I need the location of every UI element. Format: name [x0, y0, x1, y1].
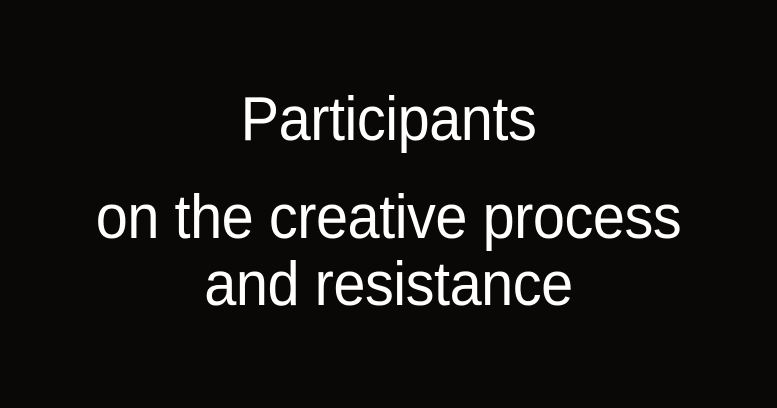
- slide-subheading-line-1: on the creative process: [36, 185, 740, 252]
- slide-subheading-line-2: and resistance: [36, 252, 740, 319]
- title-block: Participants on the creative process and…: [0, 89, 777, 319]
- slide-heading: Participants: [36, 89, 740, 151]
- title-card-slide: Participants on the creative process and…: [0, 0, 777, 408]
- slide-subheading-group: on the creative process and resistance: [10, 185, 767, 319]
